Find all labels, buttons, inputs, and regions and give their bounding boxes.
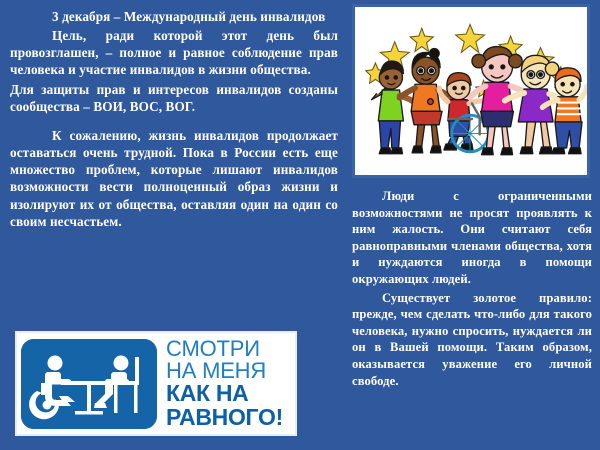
paragraph-title-day-of-disabled: 3 декабря – Международный день инвалидов [10, 8, 338, 25]
poster-slogan: СМОТРИ НА МЕНЯ КАК НА РАВНОГО! [157, 338, 295, 430]
paragraph-golden-rule: Существует золотое правило: прежде, чем … [352, 290, 592, 390]
poster-line-4: РАВНОГО! [166, 406, 291, 429]
paragraph-purpose: Цель, ради которой этот день был провозг… [10, 27, 338, 78]
two-people-at-table-wheelchair-icon [21, 339, 157, 429]
paragraph-difficulties: К сожалению, жизнь инвалидов продолжает … [10, 127, 338, 230]
look-at-me-as-an-equal-poster: СМОТРИ НА МЕНЯ КАК НА РАВНОГО! [15, 331, 297, 436]
left-text-column: 3 декабря – Международный день инвалидов… [10, 8, 338, 232]
poster-line-3: КАК НА [166, 382, 291, 405]
poster-line-2: НА МЕНЯ [166, 360, 291, 382]
children-holding-hands-illustration [352, 4, 590, 178]
right-text-column: Люди с ограниченными возможностями не пр… [352, 188, 592, 391]
paragraph-organizations: Для защиты прав и интересов инвалидов со… [10, 81, 338, 115]
paragraph-no-pity: Люди с ограниченными возможностями не пр… [352, 188, 592, 288]
poster-line-1: СМОТРИ [166, 338, 291, 360]
slide-canvas: 3 декабря – Международный день инвалидов… [0, 0, 600, 450]
